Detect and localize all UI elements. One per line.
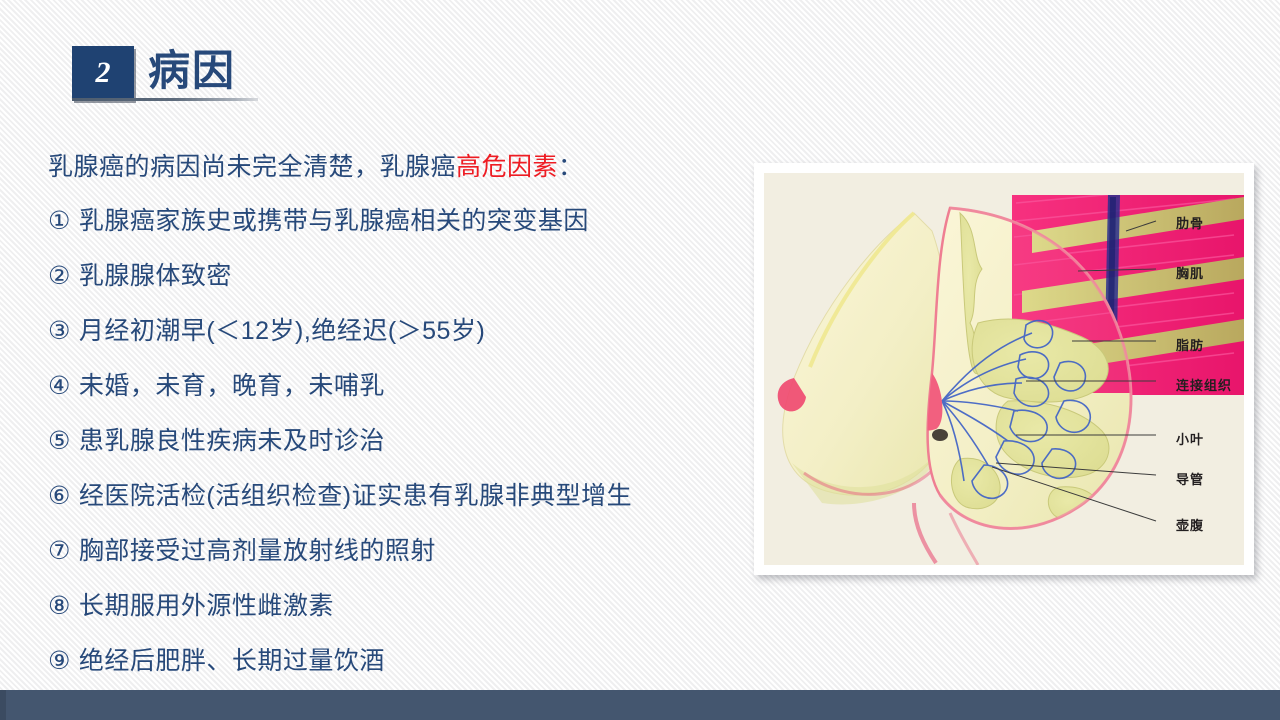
list-item: ①乳腺癌家族史或携带与乳腺癌相关的突变基因 (48, 194, 748, 249)
list-marker: ⑤ (48, 414, 71, 469)
pic-label-fat: 脂肪 (1176, 335, 1204, 354)
list-item-text: 绝经后肥胖、长期过量饮酒 (79, 647, 385, 675)
breast-anatomy-illustration: 肋骨 胸肌 脂肪 连接组织 小叶 导管 壶腹 (764, 173, 1244, 565)
list-marker: ⑥ (48, 469, 71, 524)
list-item: ④未婚，未育，晚育，未哺乳 (48, 359, 748, 414)
list-marker: ④ (48, 359, 71, 414)
list-item-text: 月经初潮早(＜12岁),绝经迟(＞55岁) (79, 317, 485, 345)
list-item: ⑥经医院活检(活组织检查)证实患有乳腺非典型增生 (48, 469, 748, 524)
breast-anatomy-image-frame: 肋骨 胸肌 脂肪 连接组织 小叶 导管 壶腹 (754, 163, 1254, 575)
content-list: 乳腺癌的病因尚未完全清楚，乳腺癌高危因素： ①乳腺癌家族史或携带与乳腺癌相关的突… (48, 146, 748, 689)
list-item-text: 乳腺癌家族史或携带与乳腺癌相关的突变基因 (79, 207, 589, 235)
slide-root: 2 病因 乳腺癌的病因尚未完全清楚，乳腺癌高危因素： ①乳腺癌家族史或携带与乳腺… (0, 0, 1280, 720)
list-item-text: 患乳腺良性疾病未及时诊治 (79, 427, 385, 455)
list-item: ③月经初潮早(＜12岁),绝经迟(＞55岁) (48, 304, 748, 359)
list-item-text: 胸部接受过高剂量放射线的照射 (79, 537, 436, 565)
page-title: 病因 (148, 44, 236, 98)
list-marker: ⑨ (48, 634, 71, 689)
footer-bar-left-edge (0, 690, 6, 720)
pic-label-duct: 导管 (1176, 469, 1204, 488)
list-item-text: 经医院活检(活组织检查)证实患有乳腺非典型增生 (79, 482, 632, 510)
list-item-text: 乳腺腺体致密 (79, 262, 232, 290)
list-item: ⑨绝经后肥胖、长期过量饮酒 (48, 634, 748, 689)
list-item: ⑦胸部接受过高剂量放射线的照射 (48, 524, 748, 579)
pic-label-rib: 肋骨 (1176, 213, 1204, 232)
list-item-text: 长期服用外源性雌激素 (79, 592, 334, 620)
section-number-badge: 2 (72, 46, 134, 100)
list-item-text: 未婚，未育，晚育，未哺乳 (79, 372, 385, 400)
pic-label-connective-tissue: 连接组织 (1176, 375, 1232, 394)
pic-label-lobule: 小叶 (1176, 429, 1204, 448)
list-item: ②乳腺腺体致密 (48, 249, 748, 304)
list-item: ⑤患乳腺良性疾病未及时诊治 (48, 414, 748, 469)
lead-highlight: 高危因素 (456, 153, 558, 181)
list-marker: ③ (48, 304, 71, 359)
list-marker: ⑦ (48, 524, 71, 579)
list-marker: ① (48, 194, 71, 249)
list-marker: ② (48, 249, 71, 304)
lead-suffix: ： (558, 153, 584, 181)
lead-prefix: 乳腺癌的病因尚未完全清楚，乳腺癌 (48, 153, 456, 181)
pic-label-pectoral-muscle: 胸肌 (1176, 263, 1204, 282)
pic-label-ampulla: 壶腹 (1176, 515, 1204, 534)
anatomy-diagram-svg (764, 173, 1244, 565)
lead-sentence: 乳腺癌的病因尚未完全清楚，乳腺癌高危因素： (48, 146, 748, 188)
header-underline (72, 98, 258, 101)
list-item: ⑧长期服用外源性雌激素 (48, 579, 748, 634)
list-marker: ⑧ (48, 579, 71, 634)
footer-bar (0, 690, 1280, 720)
